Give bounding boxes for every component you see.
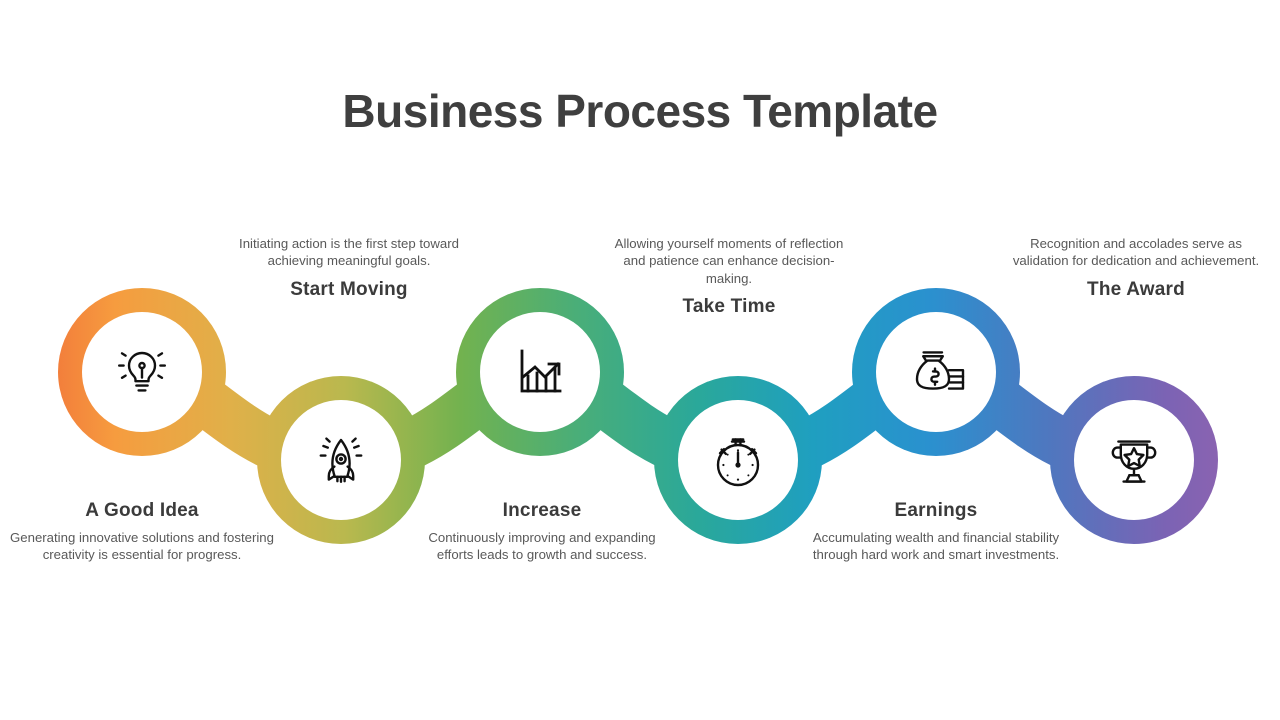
step-5-text-block: Earnings Accumulating wealth and financi… [810,500,1062,564]
trophy-icon [1102,428,1166,492]
money-bag-icon [904,340,968,404]
step-1-text-block: A Good Idea Generating innovative soluti… [10,500,274,564]
step-3-icon-container [508,340,572,404]
step-3-text-block: Increase Continuously improving and expa… [420,500,664,564]
bar-chart-growth-icon [508,340,572,404]
rocket-icon [309,428,373,492]
lightbulb-icon [110,340,174,404]
step-3-heading: Increase [420,500,664,522]
step-1-heading: A Good Idea [10,500,274,522]
step-5-description: Accumulating wealth and financial stabil… [810,529,1062,564]
step-6-description: Recognition and accolades serve as valid… [1010,235,1262,270]
slide-canvas: Business Process Template [0,0,1280,720]
step-2-icon-container [309,428,373,492]
step-1-icon-container [110,340,174,404]
step-5-heading: Earnings [810,500,1062,522]
step-1-description: Generating innovative solutions and fost… [10,529,274,564]
step-4-heading: Take Time [612,296,846,318]
step-4-icon-container [706,428,770,492]
step-4-text-block: Allowing yourself moments of reflection … [612,235,846,318]
step-6-icon-container [1102,428,1166,492]
step-2-text-block: Initiating action is the first step towa… [225,235,473,301]
step-6-heading: The Award [1010,279,1262,301]
step-2-heading: Start Moving [225,279,473,301]
page-title: Business Process Template [0,84,1280,138]
step-2-description: Initiating action is the first step towa… [225,235,473,270]
step-3-description: Continuously improving and expanding eff… [420,529,664,564]
stopwatch-icon [706,428,770,492]
step-6-text-block: Recognition and accolades serve as valid… [1010,235,1262,301]
step-4-description: Allowing yourself moments of reflection … [612,235,846,287]
step-5-icon-container [904,340,968,404]
